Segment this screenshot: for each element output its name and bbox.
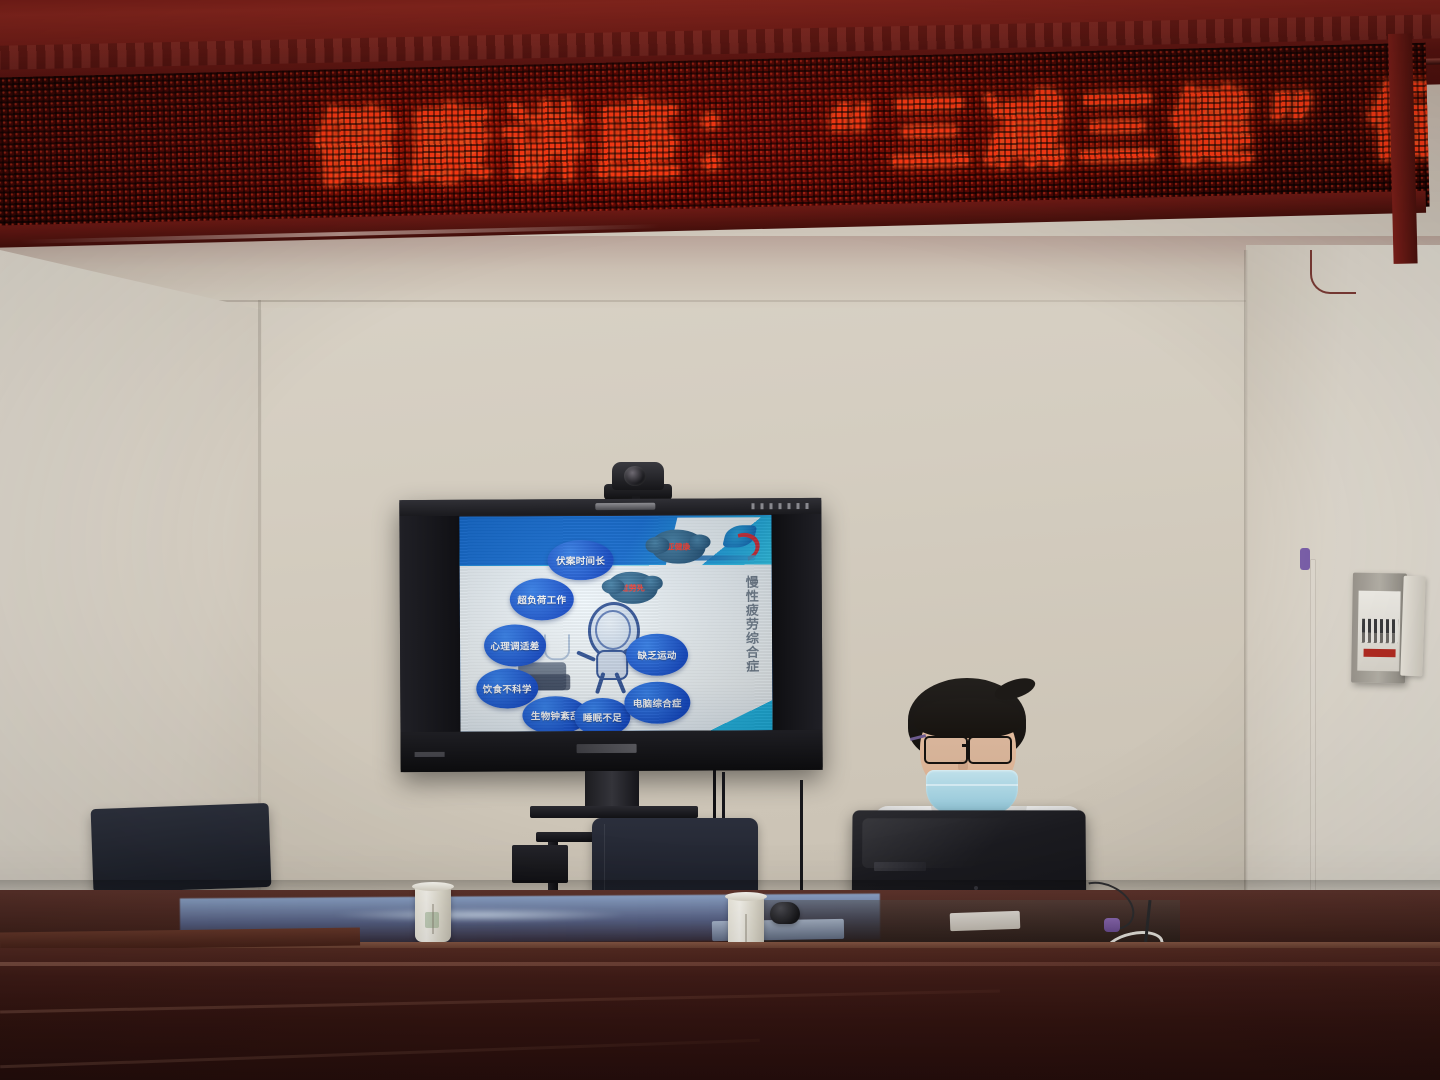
mascot-arm-left	[576, 650, 596, 662]
flat-panel-display: 亚健康 过劳死 伏案时间长 超负荷工作 心理调适差	[399, 498, 822, 772]
bezel-top	[399, 498, 821, 516]
conference-room-photo: 健康讲座： “三减三健” 促	[0, 0, 1440, 1080]
cup-seam	[745, 914, 747, 944]
eyeglasses-lens-right	[968, 736, 1012, 764]
thought-cloud-2: 过劳死	[608, 572, 658, 604]
slide-bubble-6: 睡眠不足	[574, 698, 630, 732]
mascot-face-ring	[595, 610, 631, 650]
display-power-led	[415, 752, 445, 757]
display-brand-logo	[577, 744, 637, 753]
slide-bubble-2: 超负荷工作	[510, 578, 574, 620]
surgical-mask	[926, 770, 1018, 814]
av-equipment-box	[512, 845, 568, 883]
laptop-lid-sheen	[862, 818, 1042, 868]
slide-bubble-3: 心理调适差	[484, 624, 546, 666]
laptop-brand-badge	[874, 862, 926, 871]
circuit-breakers-row1	[1362, 619, 1398, 634]
equipment-shelf-upper	[530, 806, 698, 818]
computer-mouse[interactable]	[770, 902, 800, 924]
slide-bubble-1: 伏案时间长	[548, 540, 614, 580]
bezel-right	[771, 514, 822, 730]
slide-corner-accent	[710, 700, 772, 730]
papers[interactable]	[950, 911, 1021, 931]
display-control-buttons[interactable]	[751, 503, 809, 509]
cable-plug	[1300, 548, 1310, 570]
cup-rim	[412, 882, 454, 891]
camera-lens-icon	[624, 466, 646, 486]
slide-bubble-7: 缺乏运动	[626, 634, 688, 676]
hair-fringe	[914, 698, 1022, 738]
eyeglasses-bridge	[962, 744, 970, 747]
panel-warning-label	[1363, 649, 1395, 658]
circuit-breakers-row2	[1362, 633, 1398, 644]
eyeglasses-lens-left	[924, 736, 968, 764]
slide-chair-icon	[544, 634, 570, 660]
table-molding-1	[0, 962, 1440, 966]
banner-cable-loop	[1310, 250, 1356, 294]
cup-seam	[432, 904, 434, 934]
logo-text-block	[693, 555, 756, 560]
purple-adapter-plug	[1104, 918, 1120, 932]
panel-door-open	[1400, 576, 1425, 677]
electrical-breaker-panel	[1351, 573, 1407, 684]
presentation-screen: 亚健康 过劳死 伏案时间长 超负荷工作 心理调适差	[459, 515, 772, 732]
desk-highlight	[330, 908, 630, 922]
wall-conduit-lower	[1311, 560, 1315, 890]
cup-rim	[725, 892, 767, 901]
slide: 亚健康 过劳死 伏案时间长 超负荷工作 心理调适差	[459, 515, 772, 732]
bezel-left	[399, 516, 460, 732]
display-cable-3	[800, 780, 803, 890]
paper-cup-left[interactable]	[415, 886, 451, 942]
display-mic-array	[595, 503, 655, 510]
mask-pleat	[926, 784, 1018, 786]
panel-interior	[1357, 591, 1400, 672]
led-banner: 健康讲座： “三减三健” 促	[0, 0, 1440, 252]
thought-cloud-1: 亚健康	[651, 530, 705, 564]
slide-vertical-title: 慢性疲劳综合症	[738, 575, 759, 673]
slide-bubble-8: 电脑综合症	[624, 682, 690, 724]
